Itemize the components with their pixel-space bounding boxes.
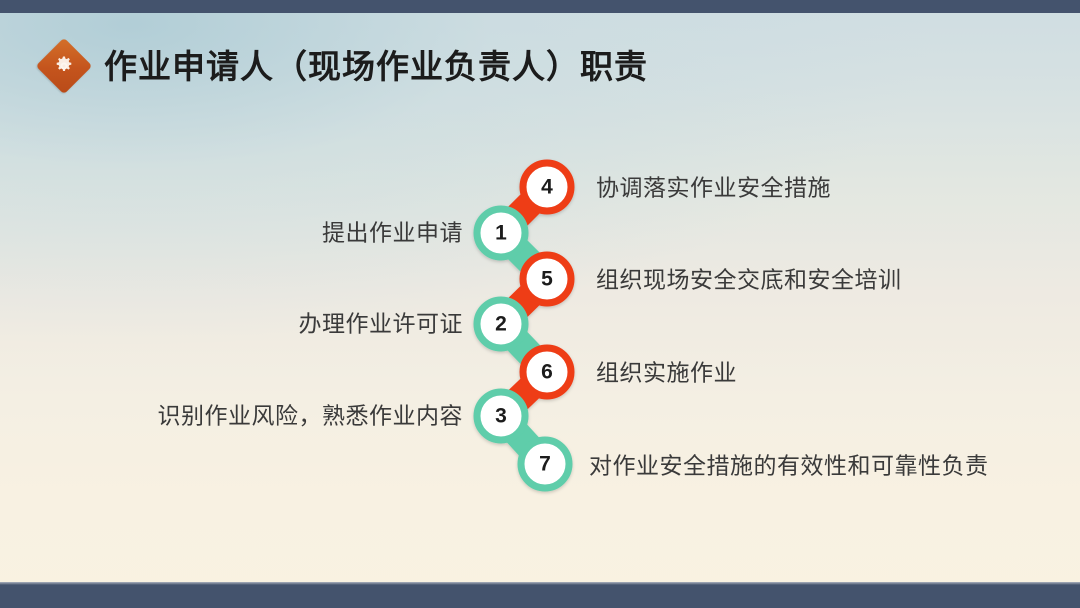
connector-6-3	[501, 372, 547, 416]
gear-diamond-icon	[36, 38, 93, 95]
top-accent-bar	[0, 0, 1080, 13]
chain-flow-diagram: 4 1 5 2	[0, 0, 1080, 608]
flow-node-2[interactable]: 2	[477, 300, 525, 348]
flow-node-1[interactable]: 1	[477, 209, 525, 257]
flow-node-5[interactable]: 5	[523, 255, 571, 303]
slide-header: 作业申请人（现场作业负责人）职责	[44, 46, 648, 86]
flow-node-4-number: 4	[541, 176, 553, 199]
flow-label-6: 组织实施作业	[596, 362, 737, 385]
flow-node-5-number: 5	[541, 268, 553, 291]
flow-label-7: 对作业安全措施的有效性和可靠性负责	[589, 455, 989, 478]
flow-label-4: 协调落实作业安全措施	[596, 177, 831, 200]
slide-canvas: 作业申请人（现场作业负责人）职责	[0, 0, 1080, 608]
flow-node-4[interactable]: 4	[523, 163, 571, 211]
flow-node-2-number: 2	[495, 313, 507, 336]
flow-label-3: 识别作业风险，熟悉作业内容	[158, 405, 464, 428]
flow-node-6[interactable]: 6	[523, 348, 571, 396]
flow-node-7-number: 7	[539, 453, 551, 476]
flow-label-1: 提出作业申请	[322, 222, 463, 245]
connector-2-6	[501, 324, 547, 372]
connector-5-2	[501, 279, 547, 324]
connector-4-1	[501, 187, 547, 233]
flow-label-5: 组织现场安全交底和安全培训	[596, 269, 902, 292]
flow-node-3[interactable]: 3	[477, 392, 525, 440]
flow-node-6-number: 6	[541, 361, 553, 384]
connector-3-7	[501, 416, 545, 464]
bottom-bar-sheen	[0, 582, 1080, 585]
bottom-accent-bar	[0, 582, 1080, 608]
connector-1-5	[501, 233, 547, 279]
flow-node-1-number: 1	[495, 222, 507, 245]
flow-node-7[interactable]: 7	[521, 440, 569, 488]
flow-node-3-number: 3	[495, 405, 507, 428]
flow-label-2: 办理作业许可证	[299, 313, 464, 336]
page-title: 作业申请人（现场作业负责人）职责	[104, 50, 648, 83]
